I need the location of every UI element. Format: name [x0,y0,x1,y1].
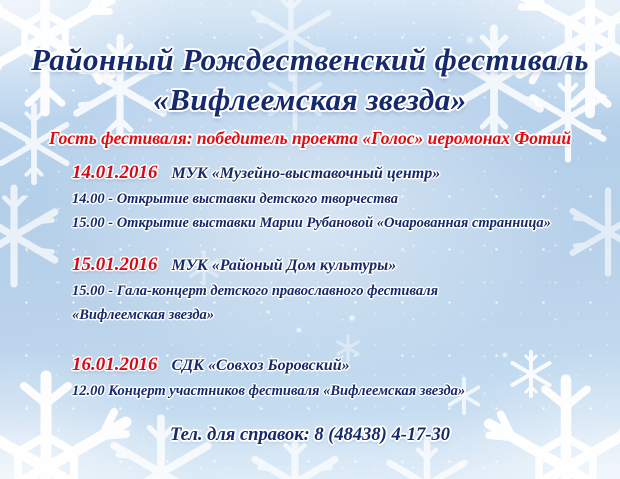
schedule-day-header: 14.01.2016 МУК «Музейно-выставочный цент… [0,162,620,184]
schedule-day: 14.01.2016 МУК «Музейно-выставочный цент… [0,162,620,232]
poster-content: Районный Рождественский фестиваль «Вифле… [0,0,620,479]
schedule-venue: МУК «Районый Дом культуры» [172,257,397,274]
schedule-venue: МУК «Музейно-выставочный центр» [172,165,441,182]
schedule-list: 14.01.2016 МУК «Музейно-выставочный цент… [0,162,620,416]
schedule-event: 15.00 - Гала-концерт детского православн… [0,283,620,300]
contact-phone: Тел. для справок: 8 (48438) 4-17-30 [0,425,620,446]
schedule-date: 16.01.2016 [72,354,158,375]
schedule-day: 15.01.2016 МУК «Районый Дом культуры» 15… [0,254,620,324]
schedule-event: 15.00 - Открытие выставки Марии Рубаново… [0,215,620,232]
title-line-1: Районный Рождественский фестиваль [0,42,620,78]
festival-poster: Районный Рождественский фестиваль «Вифле… [0,0,620,479]
schedule-event: 12.00 Концерт участников фестиваля «Вифл… [0,383,620,400]
schedule-date: 15.01.2016 [72,254,158,275]
title-line-2: «Вифлеемская звезда» [0,82,620,118]
schedule-day-header: 16.01.2016 СДК «Совхоз Боровский» [0,354,620,376]
schedule-event: 14.00 - Открытие выставки детского творч… [0,191,620,208]
guest-announcement: Гость фестиваля: победитель проекта «Гол… [0,128,620,149]
poster-title: Районный Рождественский фестиваль «Вифле… [0,42,620,118]
schedule-venue: СДК «Совхоз Боровский» [172,357,350,374]
schedule-event: «Вифлеемская звезда» [0,307,620,324]
schedule-day: 16.01.2016 СДК «Совхоз Боровский» 12.00 … [0,354,620,400]
schedule-day-header: 15.01.2016 МУК «Районый Дом культуры» [0,254,620,276]
schedule-date: 14.01.2016 [72,162,158,183]
